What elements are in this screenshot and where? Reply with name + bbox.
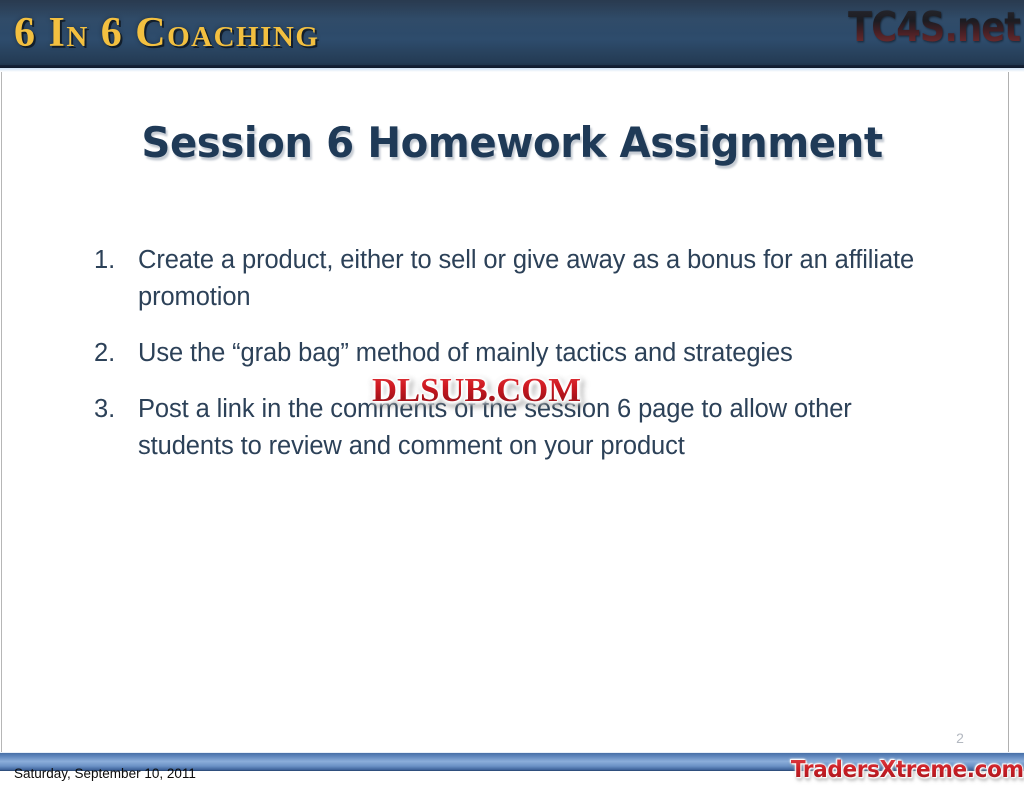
presentation-slide: 6 In 6 Coaching TC4S.net Session 6 Homew… [0, 0, 1024, 788]
tc4s-site-logo: TC4S.net [848, 2, 1020, 52]
list-item-marker: 3. [94, 391, 124, 428]
footer-date: Saturday, September 10, 2011 [14, 766, 196, 781]
slide-header-banner: 6 In 6 Coaching TC4S.net [0, 0, 1024, 68]
list-item-text: Use the “grab bag” method of mainly tact… [138, 339, 793, 367]
list-item-text: Create a product, either to sell or give… [138, 246, 914, 311]
slide-frame-left-border [1, 72, 2, 756]
slide-title: Session 6 Homework Assignment [20, 118, 1003, 167]
header-divider-rule [0, 68, 1024, 72]
slide-page-number: 2 [930, 730, 990, 746]
homework-list: 1. Create a product, either to sell or g… [92, 242, 922, 484]
slide-frame-right-border [1008, 72, 1009, 756]
list-item-marker: 2. [94, 335, 124, 372]
list-item-marker: 1. [94, 242, 124, 279]
list-item: 3. Post a link in the comments of the se… [92, 391, 922, 465]
list-item-text: Post a link in the comments of the sessi… [138, 395, 852, 460]
list-item: 2. Use the “grab bag” method of mainly t… [92, 335, 922, 372]
list-item: 1. Create a product, either to sell or g… [92, 242, 922, 316]
tradersxtreme-site-logo: TradersXtreme.com [791, 756, 1024, 784]
brand-title: 6 In 6 Coaching [14, 8, 319, 58]
